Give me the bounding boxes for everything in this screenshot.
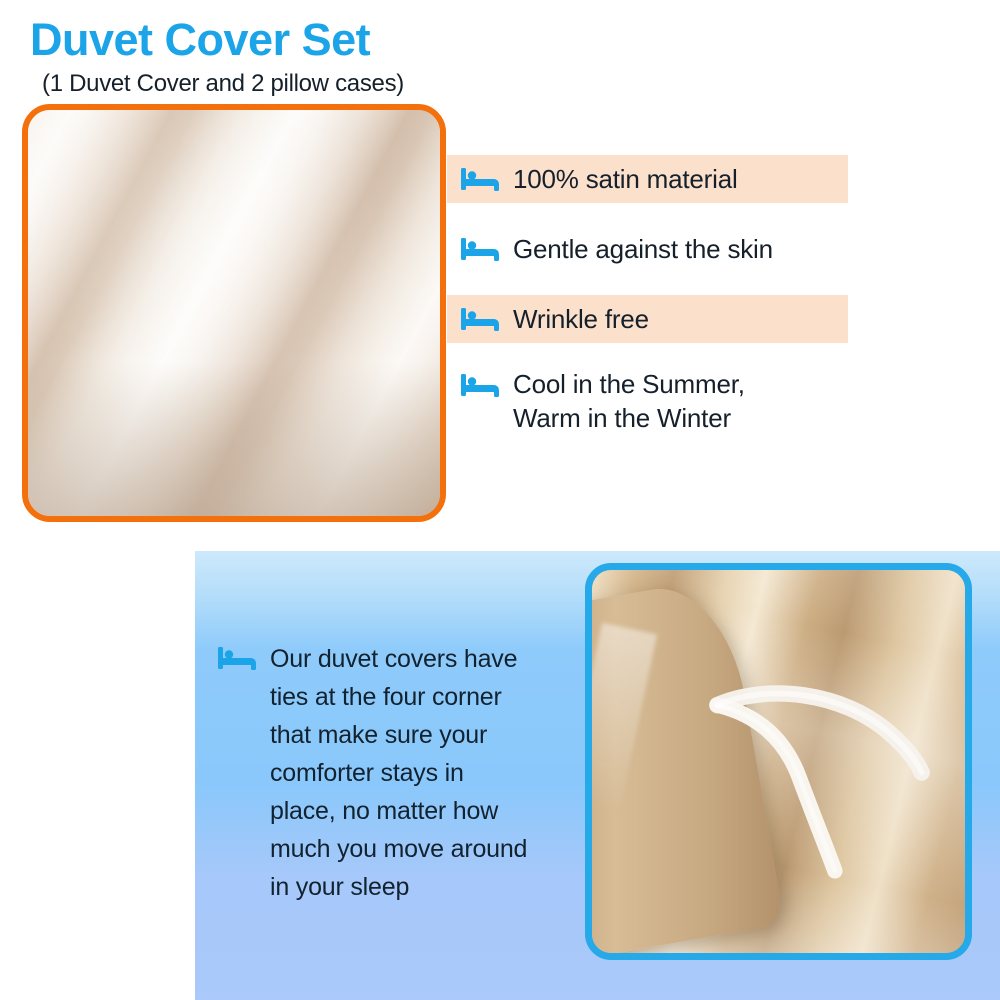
tie-photo: [585, 563, 972, 960]
tie-description-block: Our duvet covers have ties at the four c…: [218, 640, 578, 906]
feature-row-gentle-skin: Gentle against the skin: [447, 225, 848, 273]
infographic-page: Duvet Cover Set (1 Duvet Cover and 2 pil…: [0, 0, 1000, 1000]
fabric-photo: [22, 104, 446, 522]
feature-label: Wrinkle free: [513, 302, 649, 336]
feature-row-wrinkle-free: Wrinkle free: [447, 295, 848, 343]
feature-row-temperature: Cool in the Summer, Warm in the Winter: [447, 367, 848, 436]
bed-icon: [461, 165, 501, 193]
feature-label: 100% satin material: [513, 162, 738, 196]
bed-icon: [218, 644, 258, 672]
feature-label: Cool in the Summer, Warm in the Winter: [513, 367, 745, 436]
bed-icon: [461, 235, 501, 263]
feature-label: Gentle against the skin: [513, 232, 773, 266]
bed-icon: [461, 371, 501, 399]
bed-icon: [461, 305, 501, 333]
feature-row-satin-material: 100% satin material: [447, 155, 848, 203]
page-subtitle: (1 Duvet Cover and 2 pillow cases): [42, 70, 642, 98]
tie-description-text: Our duvet covers have ties at the four c…: [270, 640, 527, 906]
satin-bottom-shadow: [22, 362, 446, 522]
ribbon-ties: [592, 570, 965, 953]
page-title: Duvet Cover Set: [30, 16, 630, 63]
